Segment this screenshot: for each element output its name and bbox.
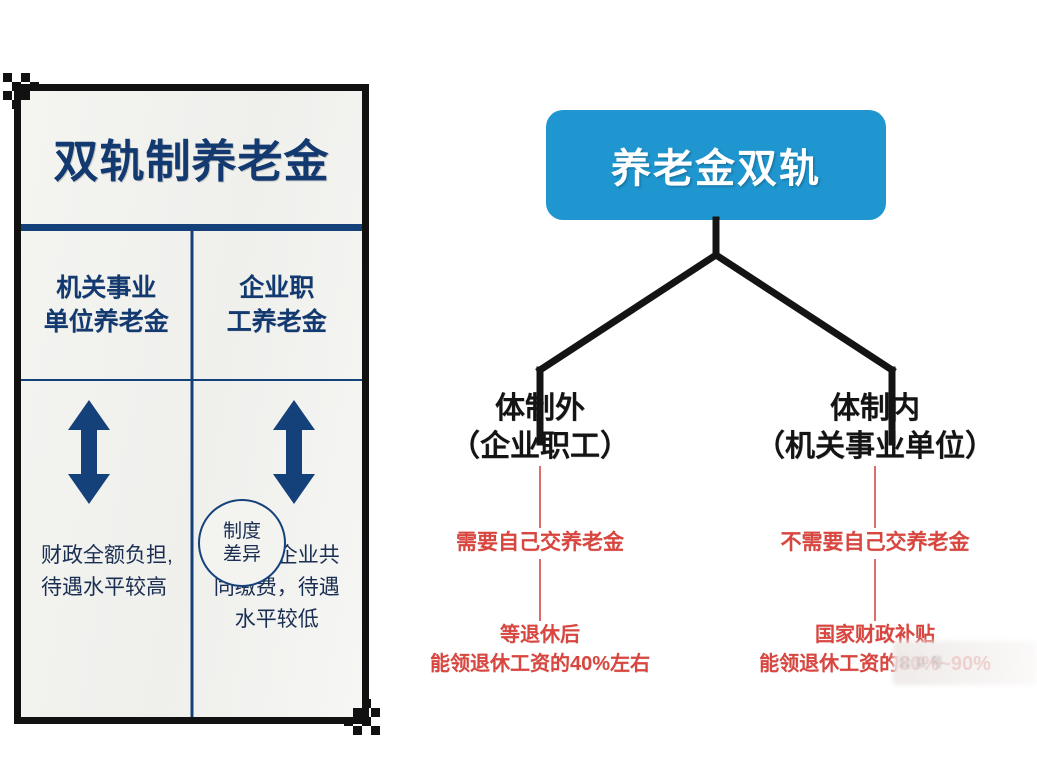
branch-outside-system-note: 需要自己交养老金 bbox=[390, 528, 690, 558]
infographic-canvas: 双轨制养老金 机关事业 单位养老金 bbox=[0, 0, 1037, 774]
branch-outside-system: 体制外 （企业职工） 需要自己交养老金 等退休后 能领退休工资的40%左右 bbox=[390, 390, 690, 679]
branch-inside-system-title: 体制内 （机关事业单位） bbox=[725, 390, 1025, 466]
outcome-line-1: 国家财政补贴 bbox=[725, 621, 1025, 650]
title-divider-rule bbox=[21, 224, 362, 231]
heading-line-2: 单位养老金 bbox=[44, 305, 169, 340]
outcome-line-2: 能领退休工资的80%~90% bbox=[725, 650, 1025, 679]
branch-title-line-1: 体制内 bbox=[725, 390, 1025, 428]
branch-outside-system-title: 体制外 （企业职工） bbox=[390, 390, 690, 466]
system-difference-badge: 制度 差异 bbox=[198, 499, 286, 587]
double-headed-vertical-arrow-icon bbox=[271, 400, 317, 504]
branch-inside-system: 体制内 （机关事业单位） 不需要自己交养老金 国家财政补贴 能领退休工资的80%… bbox=[725, 390, 1025, 679]
heading-line-1: 企业职 bbox=[239, 271, 314, 306]
column-public-sector-heading: 机关事业 单位养老金 bbox=[21, 231, 192, 379]
branch-title-line-2: （企业职工） bbox=[390, 428, 690, 466]
branch-connector-line bbox=[539, 466, 542, 528]
branch-connector-line bbox=[874, 559, 877, 621]
branch-connector-line bbox=[874, 466, 877, 528]
checkerboard-corner-icon bbox=[336, 691, 380, 735]
body-line-2: 待遇水平较高 bbox=[41, 572, 178, 604]
column-public-sector-body: 财政全额负担, 待遇水平较高 bbox=[21, 524, 192, 717]
branch-title-line-1: 体制外 bbox=[390, 390, 690, 428]
branch-connector-line bbox=[539, 559, 542, 621]
column-enterprise-sector: 企业职 工养老金 个人与企业共 同缴费，待遇 水平较低 bbox=[192, 231, 363, 717]
column-public-sector: 机关事业 单位养老金 财政全额负担, 待遇水平较高 bbox=[21, 231, 192, 717]
branch-outside-system-outcome: 等退休后 能领退休工资的40%左右 bbox=[390, 621, 690, 679]
checkerboard-corner-icon bbox=[3, 73, 47, 117]
column-enterprise-sector-heading: 企业职 工养老金 bbox=[192, 231, 363, 379]
left-comparison-panel: 双轨制养老金 机关事业 单位养老金 bbox=[14, 84, 369, 724]
watermark-text: 公众号 bbox=[898, 652, 946, 671]
left-panel-title: 双轨制养老金 bbox=[21, 91, 362, 224]
column-vertical-divider bbox=[190, 231, 193, 717]
outcome-line-2: 能领退休工资的40%左右 bbox=[390, 650, 690, 679]
heading-line-1: 机关事业 bbox=[56, 271, 156, 306]
branch-inside-system-outcome: 国家财政补贴 能领退休工资的80%~90% bbox=[725, 621, 1025, 679]
left-panel-inner: 双轨制养老金 机关事业 单位养老金 bbox=[21, 91, 362, 717]
outcome-line-1: 等退休后 bbox=[390, 621, 690, 650]
column-public-sector-arrow-cell bbox=[21, 379, 192, 524]
double-headed-vertical-arrow-icon bbox=[66, 400, 112, 504]
column-header-divider-left bbox=[21, 379, 192, 381]
column-enterprise-sector-arrow-cell bbox=[192, 379, 363, 524]
column-header-divider-right bbox=[192, 379, 363, 381]
body-line-1: 财政全额负担, bbox=[41, 540, 178, 572]
badge-line-2: 差异 bbox=[223, 543, 261, 566]
branch-title-line-2: （机关事业单位） bbox=[725, 428, 1025, 466]
heading-line-2: 工养老金 bbox=[227, 305, 327, 340]
body-line-3: 水平较低 bbox=[206, 604, 349, 636]
badge-line-1: 制度 bbox=[223, 520, 261, 543]
left-panel-columns: 机关事业 单位养老金 财政全额负担, 待遇水平较高 bbox=[21, 231, 362, 717]
branch-inside-system-note: 不需要自己交养老金 bbox=[725, 528, 1025, 558]
